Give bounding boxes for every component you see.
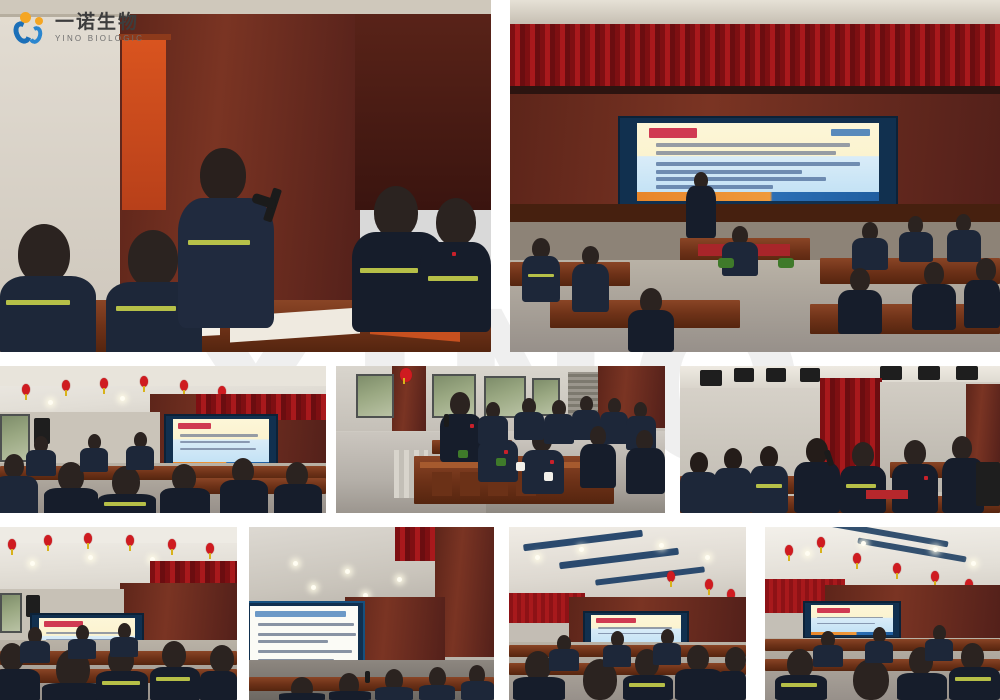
gallery-photo-6[interactable]: [0, 527, 237, 700]
company-logo[interactable]: 一诺生物 YINO BIOLOGIC: [14, 12, 144, 44]
photo-gallery-page: YINO: [0, 0, 1000, 700]
gallery-photo-7[interactable]: [249, 527, 494, 700]
gallery-photo-5[interactable]: [680, 366, 1000, 513]
gallery-photo-3[interactable]: [0, 366, 326, 513]
projection-screen: [618, 116, 898, 208]
gallery-photo-9[interactable]: [765, 527, 1000, 700]
gallery-photo-4[interactable]: [336, 366, 665, 513]
company-name-en: YINO BIOLOGIC: [55, 35, 144, 43]
gallery-photo-1[interactable]: [0, 0, 491, 352]
standing-speaker-head: [450, 392, 470, 416]
company-name-cn: 一诺生物: [55, 13, 144, 32]
gallery-photo-2[interactable]: [510, 0, 1000, 352]
gallery-photo-8[interactable]: [509, 527, 746, 700]
door: [122, 40, 166, 210]
yino-logo-mark: [14, 12, 48, 44]
